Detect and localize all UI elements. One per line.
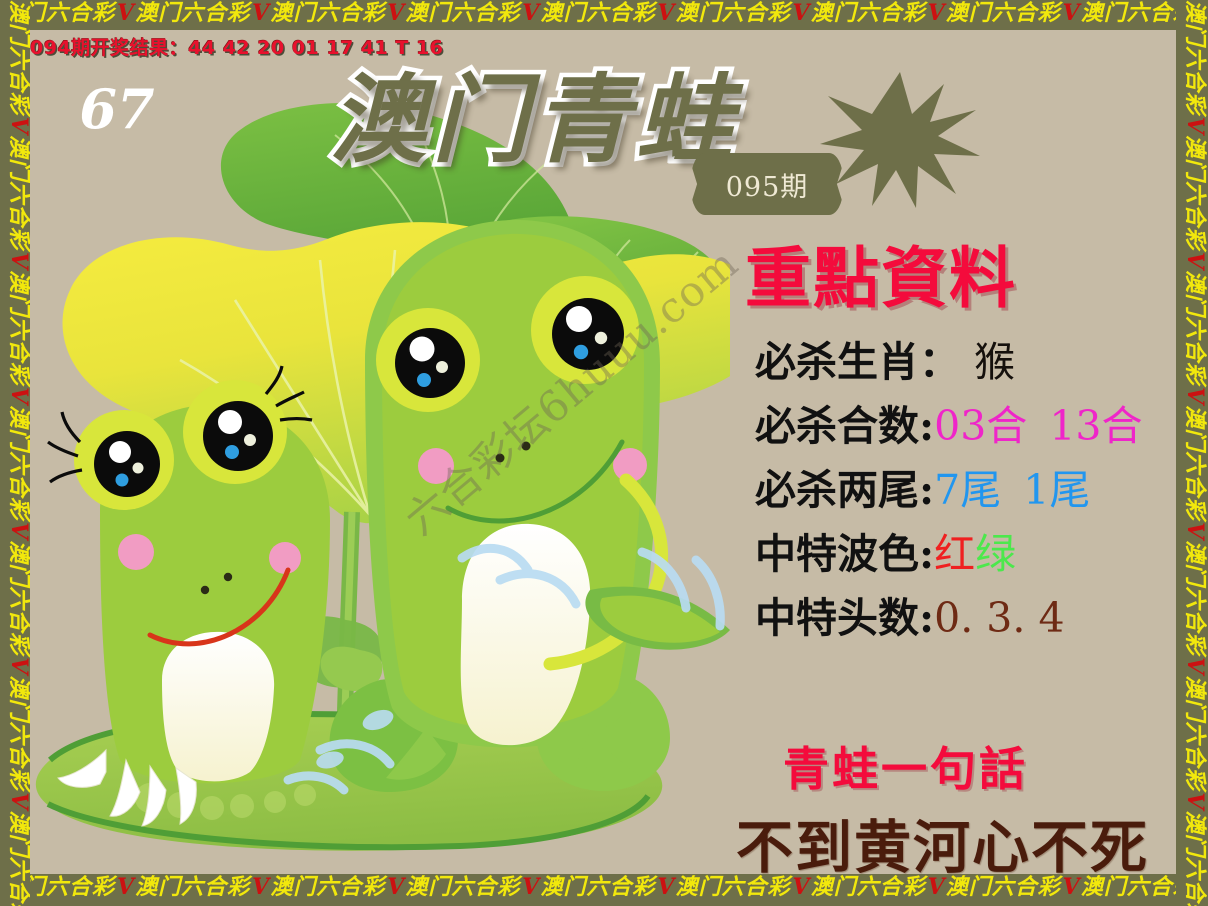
border-strip: 澳门六合彩V澳门六合彩V澳门六合彩V澳门六合彩V澳门六合彩V澳门六合彩V澳门六合… [8, 0, 30, 906]
info-value-secondary: 13合 [1049, 402, 1142, 450]
info-label: 中特头数: [755, 594, 934, 642]
border-band-bottom: 澳门六合彩V澳门六合彩V澳门六合彩V澳门六合彩V澳门六合彩V澳门六合彩V澳门六合… [0, 874, 1208, 906]
info-label: 必杀生肖： [755, 338, 960, 386]
info-row-sum: 必杀合数:03合13合 [755, 394, 1176, 458]
quote-title: 青蛙一句話 [783, 733, 1028, 799]
key-info-list: 必杀生肖：猴 必杀合数:03合13合 必杀两尾:7尾1尾 中特波色:红绿 中特头… [755, 330, 1176, 650]
info-row-tails: 必杀两尾:7尾1尾 [755, 458, 1176, 522]
info-label: 必杀两尾: [755, 466, 934, 514]
border-band-left: 澳门六合彩V澳门六合彩V澳门六合彩V澳门六合彩V澳门六合彩V澳门六合彩V澳门六合… [0, 0, 30, 906]
info-label: 中特波色: [755, 530, 934, 578]
border-strip: 澳门六合彩V澳门六合彩V澳门六合彩V澳门六合彩V澳门六合彩V澳门六合彩V澳门六合… [0, 876, 1208, 898]
info-value: 03合 [934, 402, 1027, 450]
period-label: 095期 [691, 153, 843, 215]
border-band-right: 澳门六合彩V澳门六合彩V澳门六合彩V澳门六合彩V澳门六合彩V澳门六合彩V澳门六合… [1176, 0, 1208, 906]
info-value: 7尾 [934, 466, 1001, 514]
info-value-secondary: 1尾 [1023, 466, 1090, 514]
frog-illustration [30, 60, 730, 874]
page-title: 澳门青蛙 [330, 72, 738, 168]
border-strip: 澳门六合彩V澳门六合彩V澳门六合彩V澳门六合彩V澳门六合彩V澳门六合彩V澳门六合… [0, 2, 1208, 24]
info-value-secondary: 绿 [975, 530, 1016, 578]
starburst-badge [820, 70, 980, 210]
info-value: 0. 3. 4 [934, 594, 1064, 642]
lottery-poster: 澳门六合彩V澳门六合彩V澳门六合彩V澳门六合彩V澳门六合彩V澳门六合彩V澳门六合… [0, 0, 1208, 906]
section-heading: 重點資料 [745, 225, 1017, 321]
info-row-zodiac: 必杀生肖：猴 [755, 330, 1176, 394]
draw-result-line: 094期开奖结果：44 42 20 01 17 41 T 16 [30, 33, 444, 60]
info-value: 红 [934, 530, 975, 578]
border-band-top: 澳门六合彩V澳门六合彩V澳门六合彩V澳门六合彩V澳门六合彩V澳门六合彩V澳门六合… [0, 0, 1208, 30]
info-value: 猴 [960, 338, 1015, 386]
period-banner: 095期 [691, 153, 843, 215]
poster-canvas: 094期开奖结果：44 42 20 01 17 41 T 16 澳门青蛙 67 … [30, 30, 1176, 874]
info-row-wave-color: 中特波色:红绿 [755, 522, 1176, 586]
info-label: 必杀合数: [755, 402, 934, 450]
quote-text: 不到黄河心不死 [736, 802, 1149, 874]
border-strip: 澳门六合彩V澳门六合彩V澳门六合彩V澳门六合彩V澳门六合彩V澳门六合彩V澳门六合… [1184, 0, 1206, 906]
info-row-head-numbers: 中特头数:0. 3. 4 [755, 586, 1176, 650]
